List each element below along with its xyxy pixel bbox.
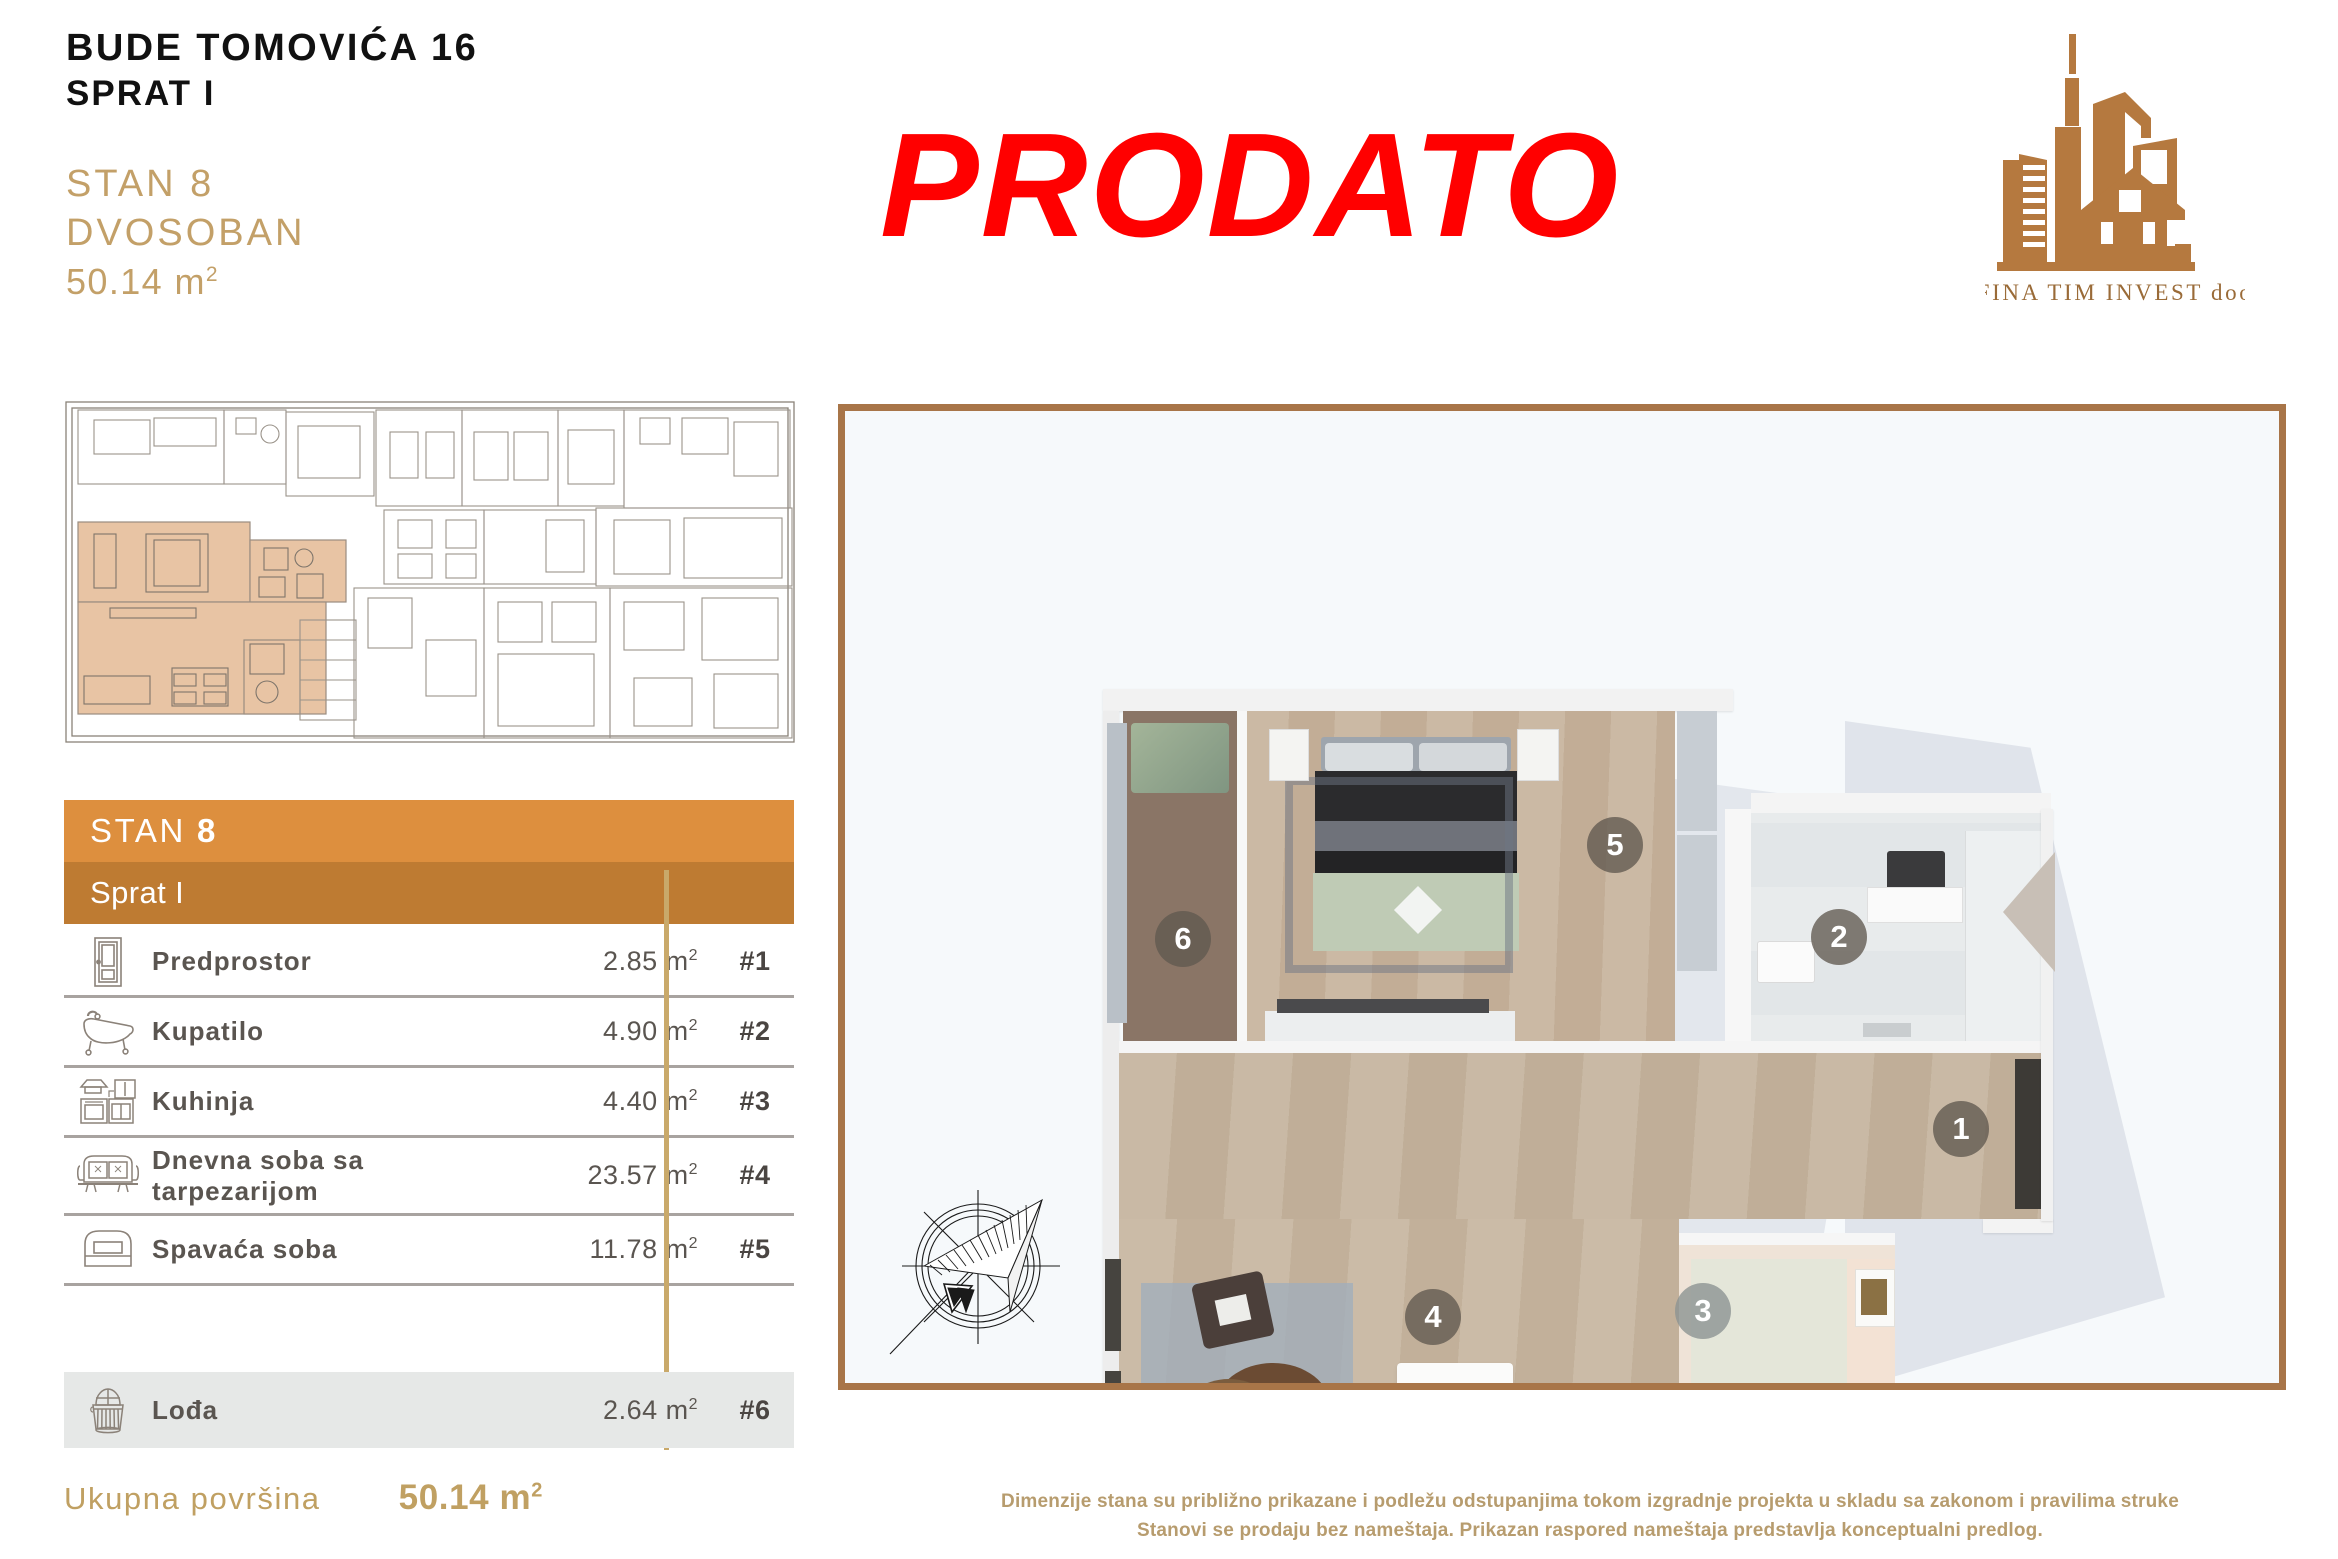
table-row-loggia: Lođa 2.64 m2 #6 xyxy=(64,1372,794,1448)
kitchen-icon xyxy=(64,1077,152,1127)
room-name: Kupatilo xyxy=(152,1016,534,1047)
room-area: 2.85 m2 xyxy=(534,946,716,977)
unit-area: 50.14 m2 xyxy=(66,259,305,306)
room-area: 23.57 m2 xyxy=(534,1160,716,1191)
room-area: 2.64 m2 xyxy=(534,1395,716,1426)
total-area-superscript: 2 xyxy=(531,1479,543,1501)
bed-icon xyxy=(64,1228,152,1272)
disclaimer-footer: Dimenzije stana su približno prikazane i… xyxy=(880,1487,2300,1546)
total-area-value: 50.14 m2 xyxy=(399,1478,543,1518)
unit-table-header-top: STAN 8 xyxy=(64,800,794,862)
disclaimer-line-1: Dimenzije stana su približno prikazane i… xyxy=(880,1487,2300,1516)
room-area-value: 2.64 m xyxy=(603,1395,689,1425)
bathtub-icon xyxy=(64,1008,152,1056)
room-area-value: 4.90 m xyxy=(603,1016,689,1046)
floor-label: SPRAT I xyxy=(66,73,478,114)
room-number: #1 xyxy=(716,946,794,977)
door-icon xyxy=(64,936,152,988)
room-area-superscript: 2 xyxy=(689,1235,698,1252)
left-info-column: BUDE TOMOVIĆA 16 SPRAT I STAN 8 DVOSOBAN… xyxy=(0,0,820,1559)
table-row: Kuhinja 4.40 m2 #3 xyxy=(64,1068,794,1138)
table-row: Predprostor 2.85 m2 #1 xyxy=(64,928,794,998)
room-marker-2: 2 xyxy=(1811,909,1867,965)
sofa-icon xyxy=(64,1152,152,1200)
balcony-icon xyxy=(64,1385,152,1435)
company-logo: FINA TIM INVEST doo xyxy=(1985,22,2245,322)
room-area-superscript: 2 xyxy=(689,1396,698,1413)
status-badge-prodato: PRODATO xyxy=(880,112,1620,260)
room-area-value: 23.57 m xyxy=(588,1160,689,1190)
room-area-value: 2.85 m xyxy=(603,946,689,976)
unit-area-superscript: 2 xyxy=(206,263,219,286)
room-area-superscript: 2 xyxy=(689,1161,698,1178)
unit-table-header-value: 8 xyxy=(197,812,216,850)
entrance-arrow-icon xyxy=(2003,852,2055,972)
room-number: #6 xyxy=(716,1395,794,1426)
room-number: #4 xyxy=(716,1160,794,1191)
room-area: 4.40 m2 xyxy=(534,1086,716,1117)
unit-type: DVOSOBAN xyxy=(66,209,305,258)
table-row: Spavaća soba 11.78 m2 #5 xyxy=(64,1216,794,1286)
unit-area-value: 50.14 m xyxy=(66,261,206,302)
table-row: Kupatilo 4.90 m2 #2 xyxy=(64,998,794,1068)
room-marker-1: 1 xyxy=(1933,1101,1989,1157)
unit-name: STAN 8 xyxy=(66,160,305,209)
room-name: Spavaća soba xyxy=(152,1234,534,1265)
total-area-number: 50.14 m xyxy=(399,1478,532,1517)
room-number: #5 xyxy=(716,1234,794,1265)
unit-table-header-bottom: Sprat I xyxy=(64,862,794,924)
unit-table-header-label: STAN xyxy=(90,812,186,850)
table-column-divider xyxy=(664,870,669,1450)
room-name: Dnevna soba sa tarpezarijom xyxy=(152,1145,534,1206)
room-area-superscript: 2 xyxy=(689,1087,698,1104)
total-area-label: Ukupna površina xyxy=(64,1481,321,1517)
room-table: Predprostor 2.85 m2 #1 Kupatilo 4.90 m2 … xyxy=(64,928,794,1286)
room-marker-3: 3 xyxy=(1675,1283,1731,1339)
room-area-superscript: 2 xyxy=(689,1017,698,1034)
room-marker-6: 6 xyxy=(1155,911,1211,967)
room-area: 4.90 m2 xyxy=(534,1016,716,1047)
room-area-value: 11.78 m xyxy=(590,1234,689,1264)
room-area-superscript: 2 xyxy=(689,947,698,964)
room-name: Lođa xyxy=(152,1395,534,1426)
unit-table-header: STAN 8 Sprat I xyxy=(64,800,794,924)
room-name: Kuhinja xyxy=(152,1086,534,1117)
room-number: #2 xyxy=(716,1016,794,1047)
company-name: FINA TIM INVEST doo xyxy=(1985,280,2245,305)
building-key-map xyxy=(54,392,806,752)
total-area-row: Ukupna površina 50.14 m2 xyxy=(64,1478,794,1518)
room-marker-4: 4 xyxy=(1405,1289,1461,1345)
room-name: Predprostor xyxy=(152,946,534,977)
building-address: BUDE TOMOVIĆA 16 xyxy=(66,26,478,71)
title-block: BUDE TOMOVIĆA 16 SPRAT I xyxy=(66,26,478,114)
unit-summary-block: STAN 8 DVOSOBAN 50.14 m2 xyxy=(66,160,305,306)
room-number: #3 xyxy=(716,1086,794,1117)
north-arrow-compass-icon xyxy=(882,1162,1092,1362)
disclaimer-line-2: Stanovi se prodaju bez nameštaja. Prikaz… xyxy=(880,1516,2300,1545)
room-area-value: 4.40 m xyxy=(603,1086,689,1116)
table-row: Dnevna soba sa tarpezarijom 23.57 m2 #4 xyxy=(64,1138,794,1216)
room-marker-5: 5 xyxy=(1587,817,1643,873)
room-area: 11.78 m2 xyxy=(534,1234,716,1265)
